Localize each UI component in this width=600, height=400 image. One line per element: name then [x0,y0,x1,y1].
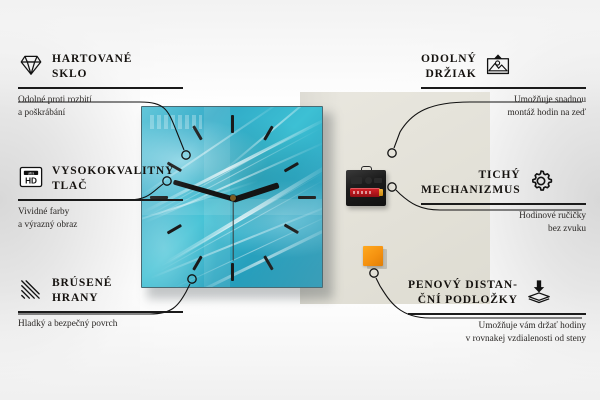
feature-rule [18,199,183,200]
ultra-hd-icon: ultra HD [18,164,44,190]
feature-hartovane-sklo: HARTOVANÉ SKLO Odolné proti rozbití a po… [18,52,183,121]
picture-frame-hanger-icon [485,52,511,78]
feature-title: BRÚSENÉ HRANY [52,276,112,306]
feature-rule [18,87,183,88]
feature-description: Umožňuje snadnou montáž hodin na zeď [421,94,586,121]
feature-rule [18,311,183,312]
diamond-icon [18,52,44,78]
clock-mechanism [346,166,386,206]
infographic-canvas: HARTOVANÉ SKLO Odolné proti rozbití a po… [0,0,600,400]
mechanism-dial [365,177,372,184]
ultra-hd-icon-main-text: HD [25,177,37,186]
feature-rule [408,313,586,314]
gear-icon [528,168,554,194]
feature-penove-podlozky: PENOVÝ DISTAN- ČNÍ PODLOŽKY Umožňuje vám… [408,278,586,347]
battery-label [353,191,373,194]
battery-terminal [379,189,383,196]
feature-brusene-hrany: BRÚSENÉ HRANY Hladký a bezpečný povrch [18,276,183,331]
ultra-hd-icon-top-text: ultra [28,171,35,175]
feature-description: Hladký a bezpečný povrch [18,318,183,331]
mechanism-detail [374,178,382,183]
beveled-edges-icon [18,276,44,302]
foam-pad-face [363,246,383,266]
foam-distance-pad [363,246,385,268]
feature-description: Vividné farby a výrazný obraz [18,206,183,233]
feature-rule [421,87,586,88]
feature-tichy-mechanizmus: TICHÝ MECHANIZMUS Hodinové ručičky bez z… [421,168,586,237]
feature-description: Umožňuje vám držať hodiny v rovnakej vzd… [408,320,586,347]
mechanism-detail [351,177,362,184]
feature-rule [421,203,586,204]
feature-title: ODOLNÝ DRŽIAK [421,52,477,82]
press-layers-icon [526,278,552,304]
feature-title: PENOVÝ DISTAN- ČNÍ PODLOŽKY [408,278,518,308]
feature-title: VYSOKOKVALITNÝ TLAČ [52,164,174,194]
feature-title: HARTOVANÉ SKLO [52,52,132,82]
feature-description: Hodinové ručičky bez zvuku [421,210,586,237]
feature-title: TICHÝ MECHANIZMUS [421,168,520,198]
feature-vysokokvalitny-tlac: ultra HD VYSOKOKVALITNÝ TLAČ Vividné far… [18,164,183,233]
feature-odolny-drziak: ODOLNÝ DRŽIAK Umožňuje snadnou montáž ho… [421,52,586,121]
feature-description: Odolné proti rozbití a poškrábání [18,94,183,121]
